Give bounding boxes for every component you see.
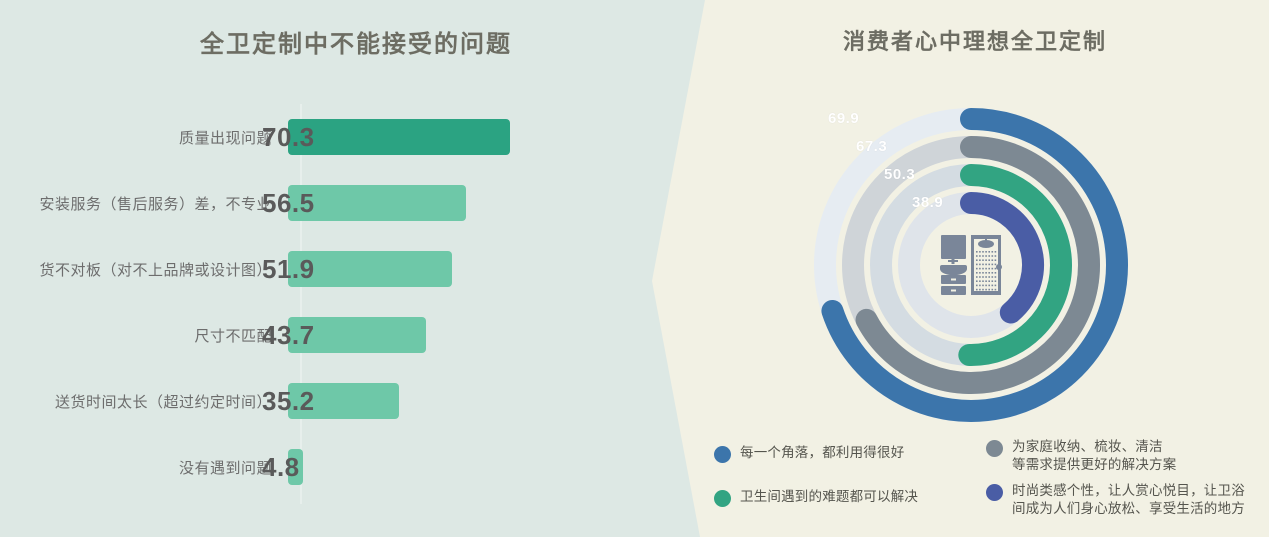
left-panel-title: 全卫定制中不能接受的问题 (200, 24, 512, 59)
bar-track (288, 434, 534, 500)
legend-color-swatch (986, 440, 1003, 457)
radial-value-label: 69.9 (828, 110, 859, 127)
legend-color-swatch (714, 446, 731, 463)
bar-row: 质量出现问题70.3 (0, 104, 640, 170)
legend-color-swatch (714, 490, 731, 507)
bar-value-label: 51.9 (262, 236, 315, 302)
legend-item-3[interactable]: 时尚类感个性，让人赏心悦目，让卫浴 间成为人们身心放松、享受生活的地方 (986, 482, 1245, 518)
bar-track (288, 236, 534, 302)
bar-row: 安装服务（售后服务）差，不专业56.5 (0, 170, 640, 236)
right-panel-title: 消费者心中理想全卫定制 (843, 24, 1107, 56)
bar-category-label: 货不对板（对不上品牌或设计图） (0, 259, 288, 280)
bar-value-label: 70.3 (262, 104, 315, 170)
bar-value-label: 43.7 (262, 302, 315, 368)
bar-track (288, 302, 534, 368)
radial-value-label: 50.3 (884, 166, 915, 183)
bar-chart: 质量出现问题70.3安装服务（售后服务）差，不专业56.5货不对板（对不上品牌或… (0, 104, 640, 504)
bar-category-label: 质量出现问题 (0, 127, 288, 148)
radial-bar-chart: 69.967.350.338.9 (806, 100, 1136, 430)
legend-item-2[interactable]: 为家庭收纳、梳妆、清洁 等需求提供更好的解决方案 (986, 438, 1176, 474)
bar-track (288, 170, 534, 236)
bathroom-vanity-shower-icon (937, 231, 1005, 299)
radial-value-label: 38.9 (912, 194, 943, 211)
bar-row: 货不对板（对不上品牌或设计图）51.9 (0, 236, 640, 302)
bar-value-label: 35.2 (262, 368, 315, 434)
legend-item-0[interactable]: 每一个角落，都利用得很好 (714, 444, 904, 463)
bar-row: 没有遇到问题4.8 (0, 434, 640, 500)
bar-category-label: 没有遇到问题 (0, 457, 288, 478)
legend-item-label: 为家庭收纳、梳妆、清洁 等需求提供更好的解决方案 (1012, 438, 1176, 474)
bar-row: 送货时间太长（超过约定时间）35.2 (0, 368, 640, 434)
bar-value-label: 56.5 (262, 170, 315, 236)
infographic-canvas: 全卫定制中不能接受的问题 消费者心中理想全卫定制 质量出现问题70.3安装服务（… (0, 0, 1269, 537)
bar-category-label: 送货时间太长（超过约定时间） (0, 391, 288, 412)
bar-fill (288, 119, 510, 155)
bar-track (288, 104, 534, 170)
bar-row: 尺寸不匹配43.7 (0, 302, 640, 368)
bar-category-label: 尺寸不匹配 (0, 325, 288, 346)
legend-item-label: 卫生间遇到的难题都可以解决 (740, 488, 918, 506)
legend: 每一个角落，都利用得很好 卫生间遇到的难题都可以解决 为家庭收纳、梳妆、清洁 等… (714, 438, 1269, 530)
bar-track (288, 368, 534, 434)
bar-value-label: 4.8 (262, 434, 300, 500)
legend-item-1[interactable]: 卫生间遇到的难题都可以解决 (714, 488, 918, 507)
legend-item-label: 时尚类感个性，让人赏心悦目，让卫浴 间成为人们身心放松、享受生活的地方 (1012, 482, 1245, 518)
legend-color-swatch (986, 484, 1003, 501)
legend-item-label: 每一个角落，都利用得很好 (740, 444, 904, 462)
bar-category-label: 安装服务（售后服务）差，不专业 (0, 193, 288, 214)
bar-fill (288, 185, 466, 221)
radial-value-label: 67.3 (856, 138, 887, 155)
